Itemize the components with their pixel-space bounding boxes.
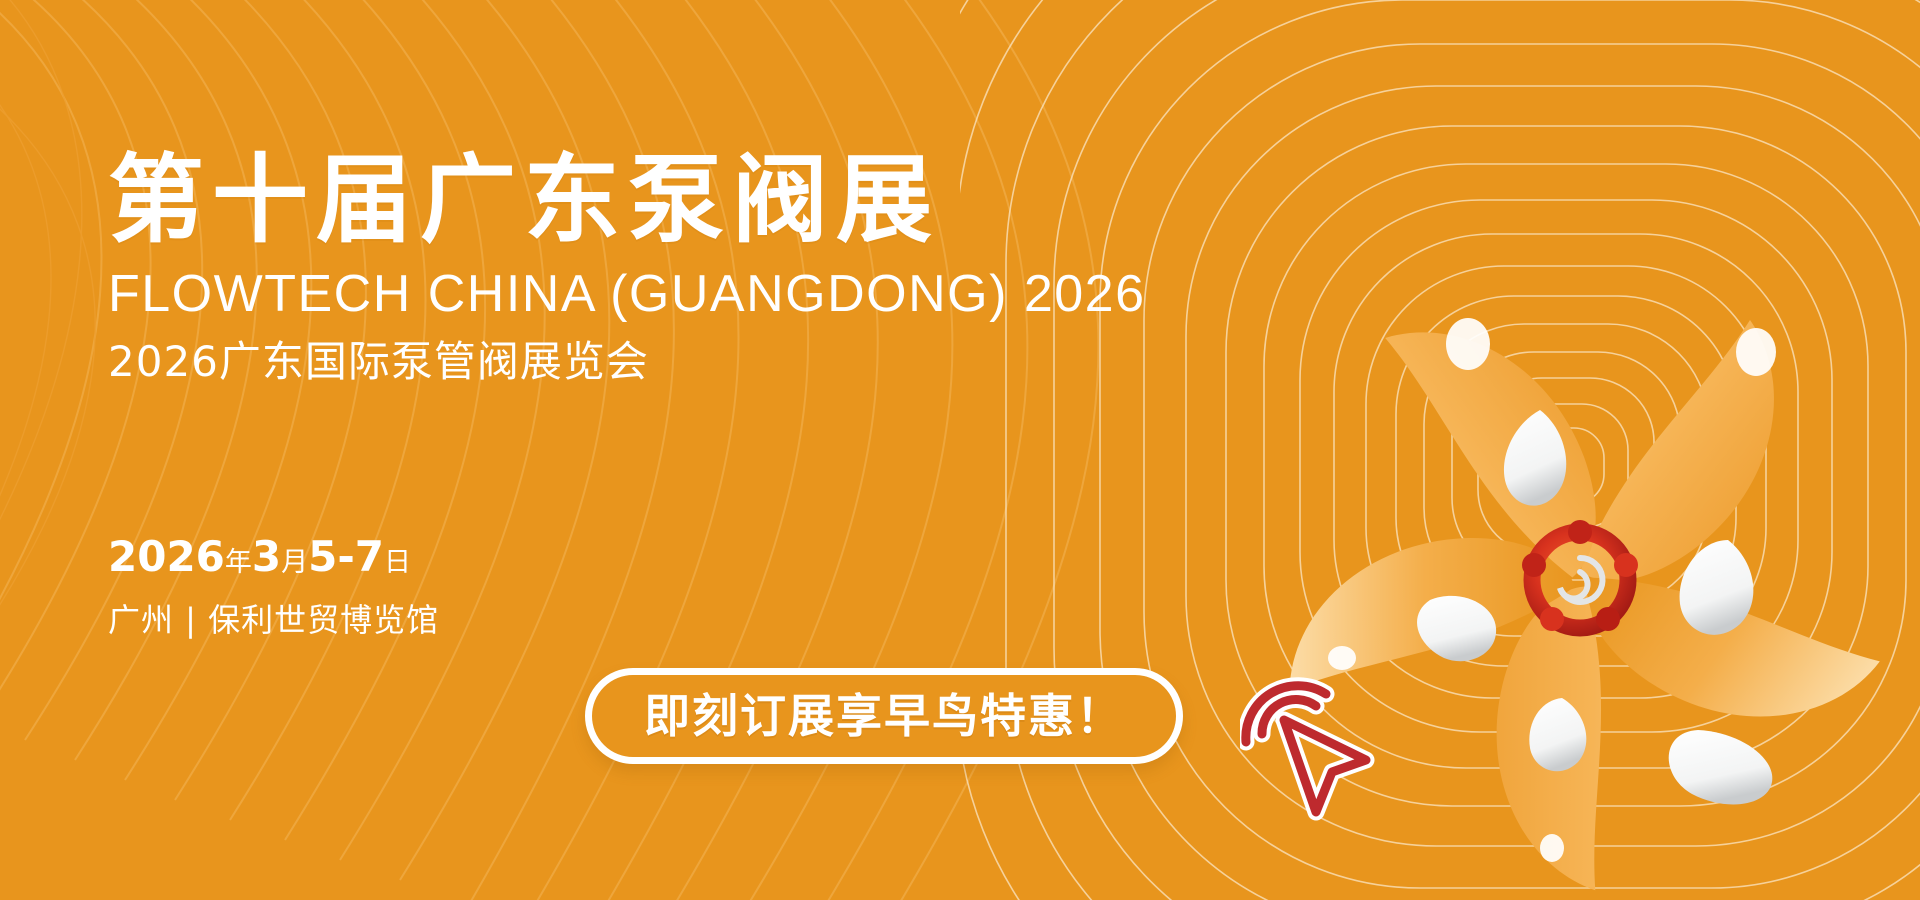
date-days: 5-7 <box>308 532 384 581</box>
title-english: FLOWTECH CHINA (GUANGDONG) 2026 <box>108 264 1108 325</box>
promotional-banner: 第十届广东泵阀展 FLOWTECH CHINA (GUANGDONG) 2026… <box>0 0 1920 900</box>
title-subtitle-cn: 2026广东国际泵管阀展览会 <box>108 337 1108 387</box>
headline-group: 第十届广东泵阀展 FLOWTECH CHINA (GUANGDONG) 2026… <box>108 150 1108 388</box>
cta-label: 即刻订展享早鸟特惠！ <box>644 693 1124 739</box>
event-meta: 2026年3月5-7日 广州 | 保利世贸博览馆 <box>108 532 439 641</box>
wave-lines-pattern <box>0 0 1920 900</box>
contour-lines-pattern <box>0 0 1920 900</box>
event-date: 2026年3月5-7日 <box>108 532 439 581</box>
date-year: 2026 <box>108 532 225 581</box>
date-month: 3 <box>252 532 281 581</box>
date-year-unit: 年 <box>225 547 252 578</box>
event-venue: 广州 | 保利世贸博览馆 <box>108 595 439 641</box>
page-title: 第十届广东泵阀展 <box>108 150 1108 252</box>
date-day-unit: 日 <box>384 547 411 578</box>
click-cursor-icon <box>1240 672 1390 832</box>
date-month-unit: 月 <box>281 547 308 578</box>
early-bird-cta-button[interactable]: 即刻订展享早鸟特惠！ <box>585 668 1183 764</box>
pinwheel-flower-graphic <box>1200 250 1920 900</box>
